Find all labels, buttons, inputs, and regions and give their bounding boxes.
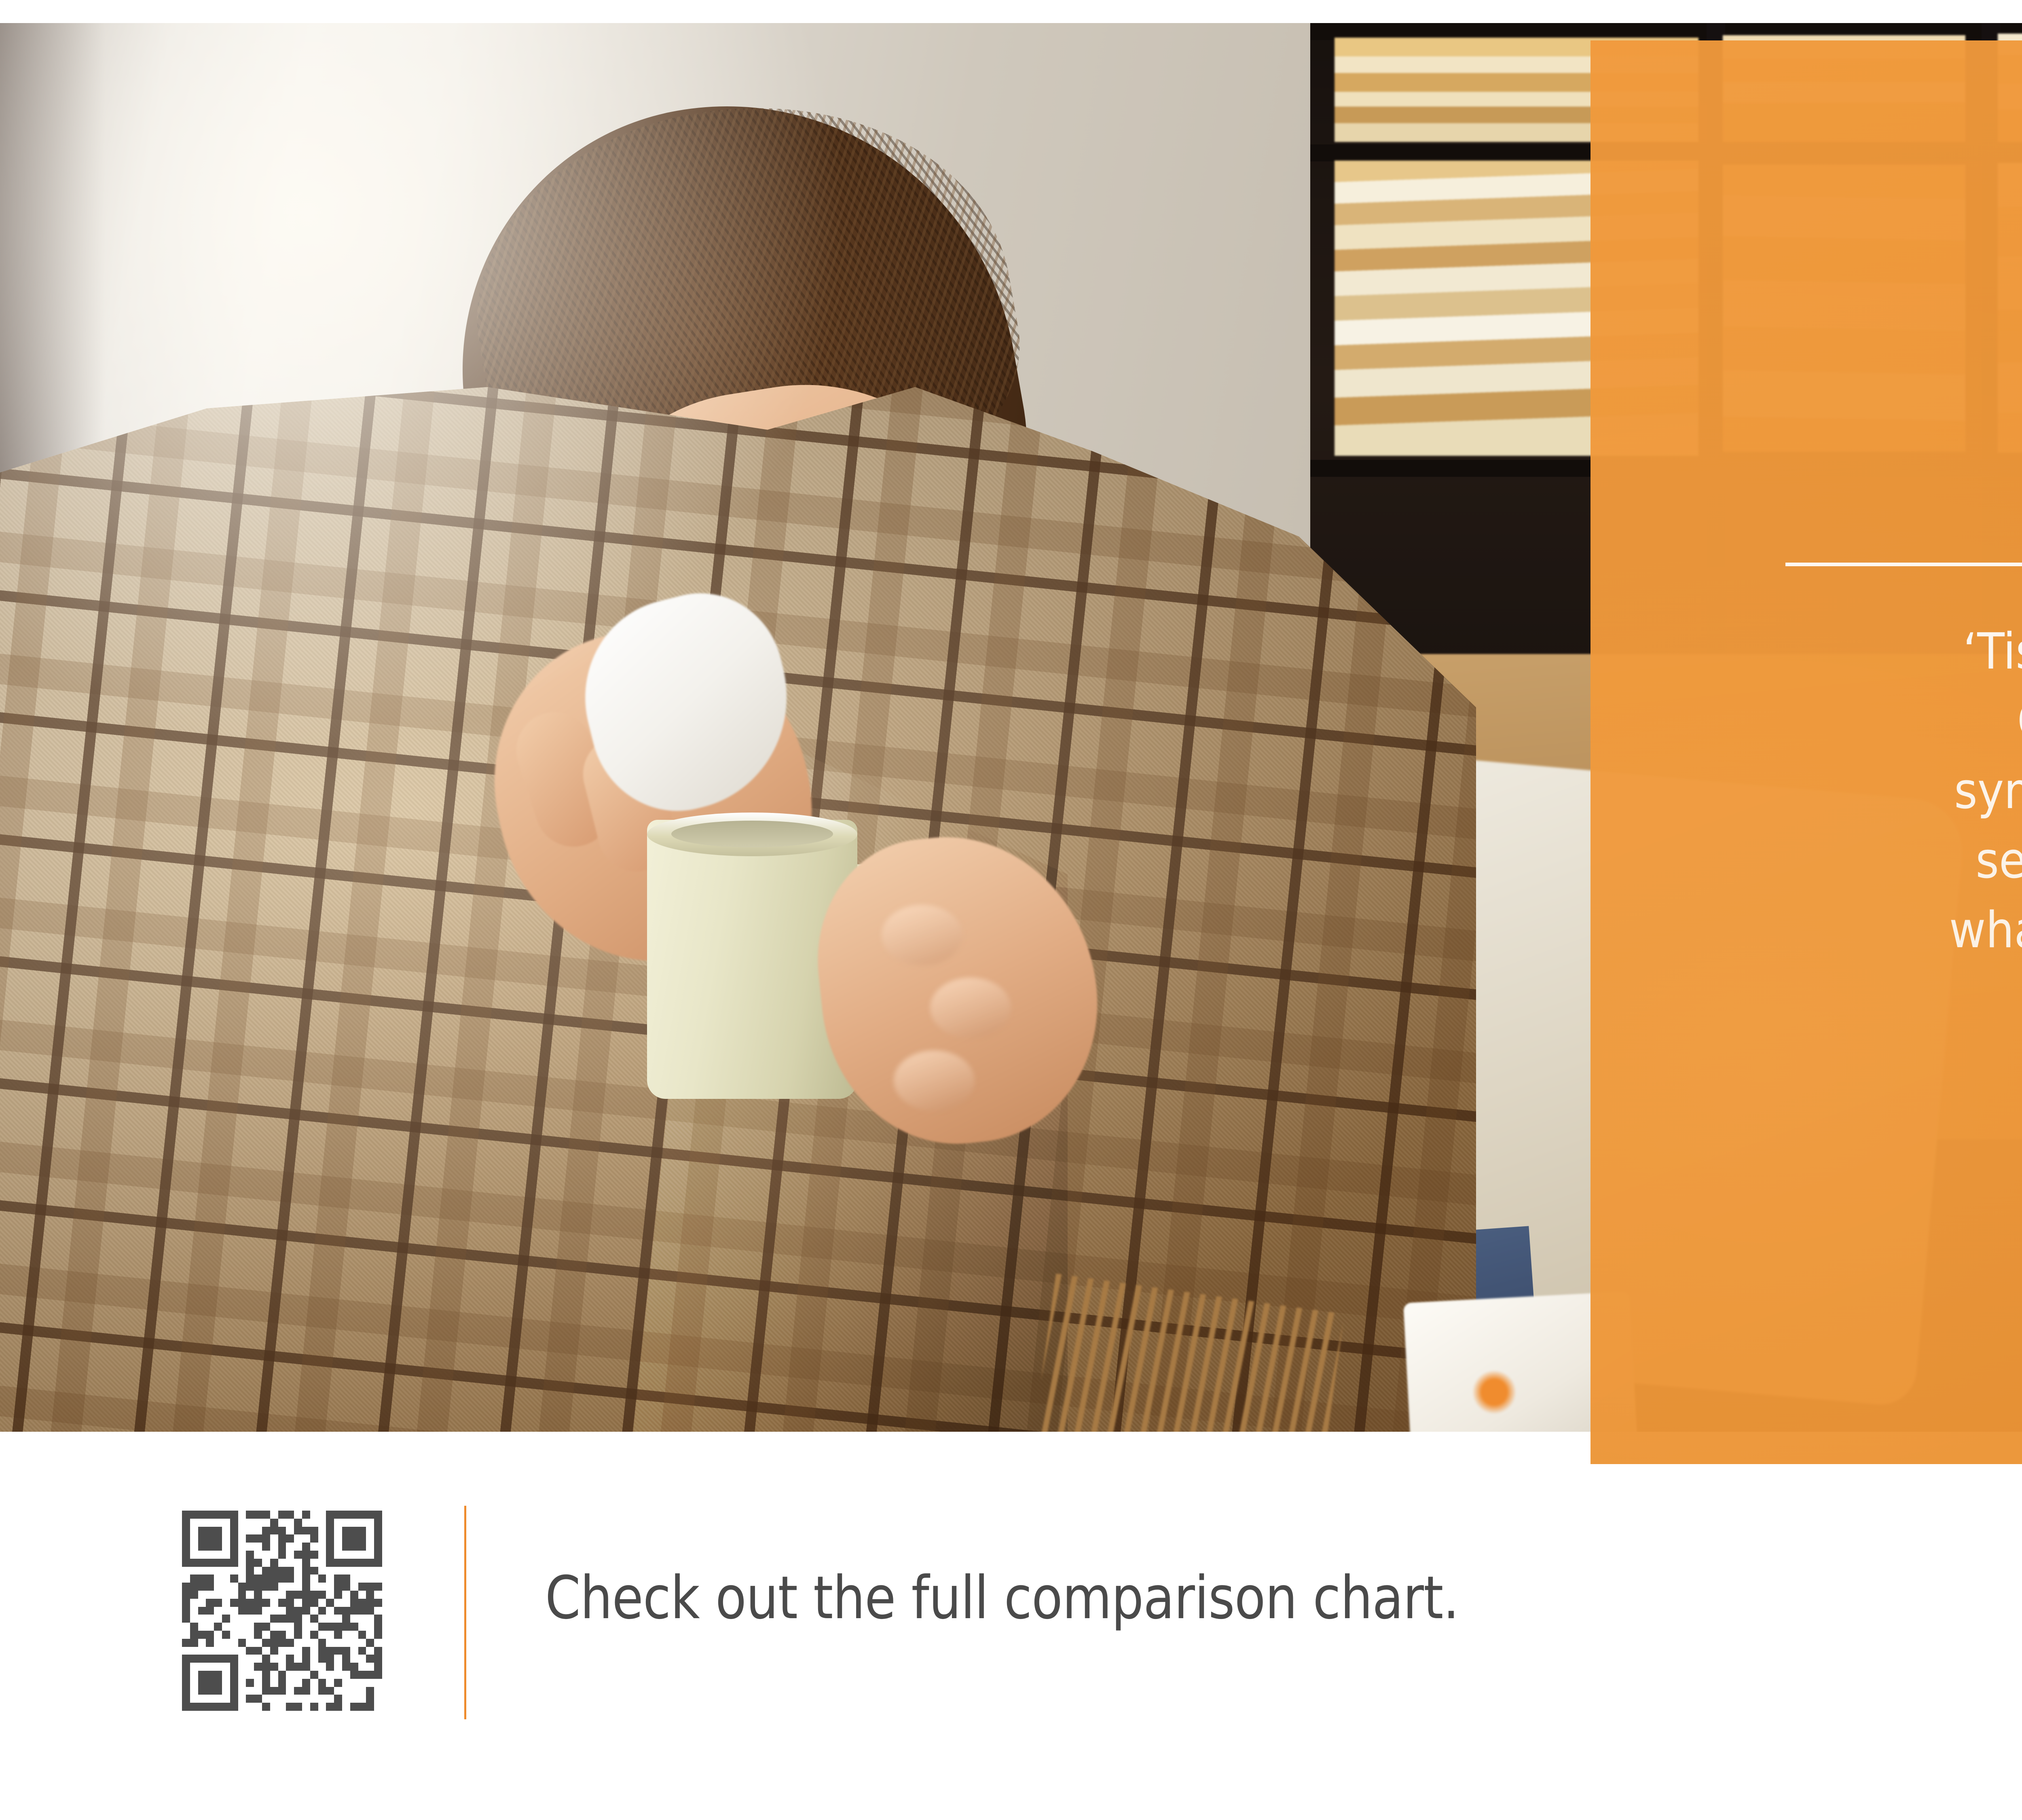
headline: Is it allergies, a cold, the flu or COVI… [1923,195,2022,503]
footer-divider-rule [464,1506,466,1719]
headline-line-1: Is it allergies, [1923,195,2022,298]
subcopy-line-5: what you might be dealing with. [1765,896,2022,965]
footer-caption: Check out the full comparison chart. [545,1564,1459,1632]
subcopy-line-2: Compare and contrast the [1765,687,2022,756]
subcopy-line-3: symptoms of the most common [1765,757,2022,826]
photo-mug-interior [671,821,833,847]
headline-line-3: or COVID-19? [1923,400,2022,503]
subcopy-line-1: ‘Tis the season for feeling sick! [1765,617,2022,687]
photo-tissue-box-graphic [1472,1370,1516,1414]
headline-line-2: a cold, the flu [1923,298,2022,400]
panel-content: Is it allergies, a cold, the flu or COVI… [1591,40,2022,1464]
photo-window-glow [0,23,890,791]
banner-canvas: Is it allergies, a cold, the flu or COVI… [0,0,2022,1820]
subcopy: ‘Tis the season for feeling sick! Compar… [1765,617,2022,965]
subcopy-line-4: seasonal culprits so you know [1765,826,2022,896]
qr-code[interactable] [182,1511,382,1711]
headline-divider [1785,563,2022,566]
orange-callout-panel: Is it allergies, a cold, the flu or COVI… [1591,40,2022,1464]
